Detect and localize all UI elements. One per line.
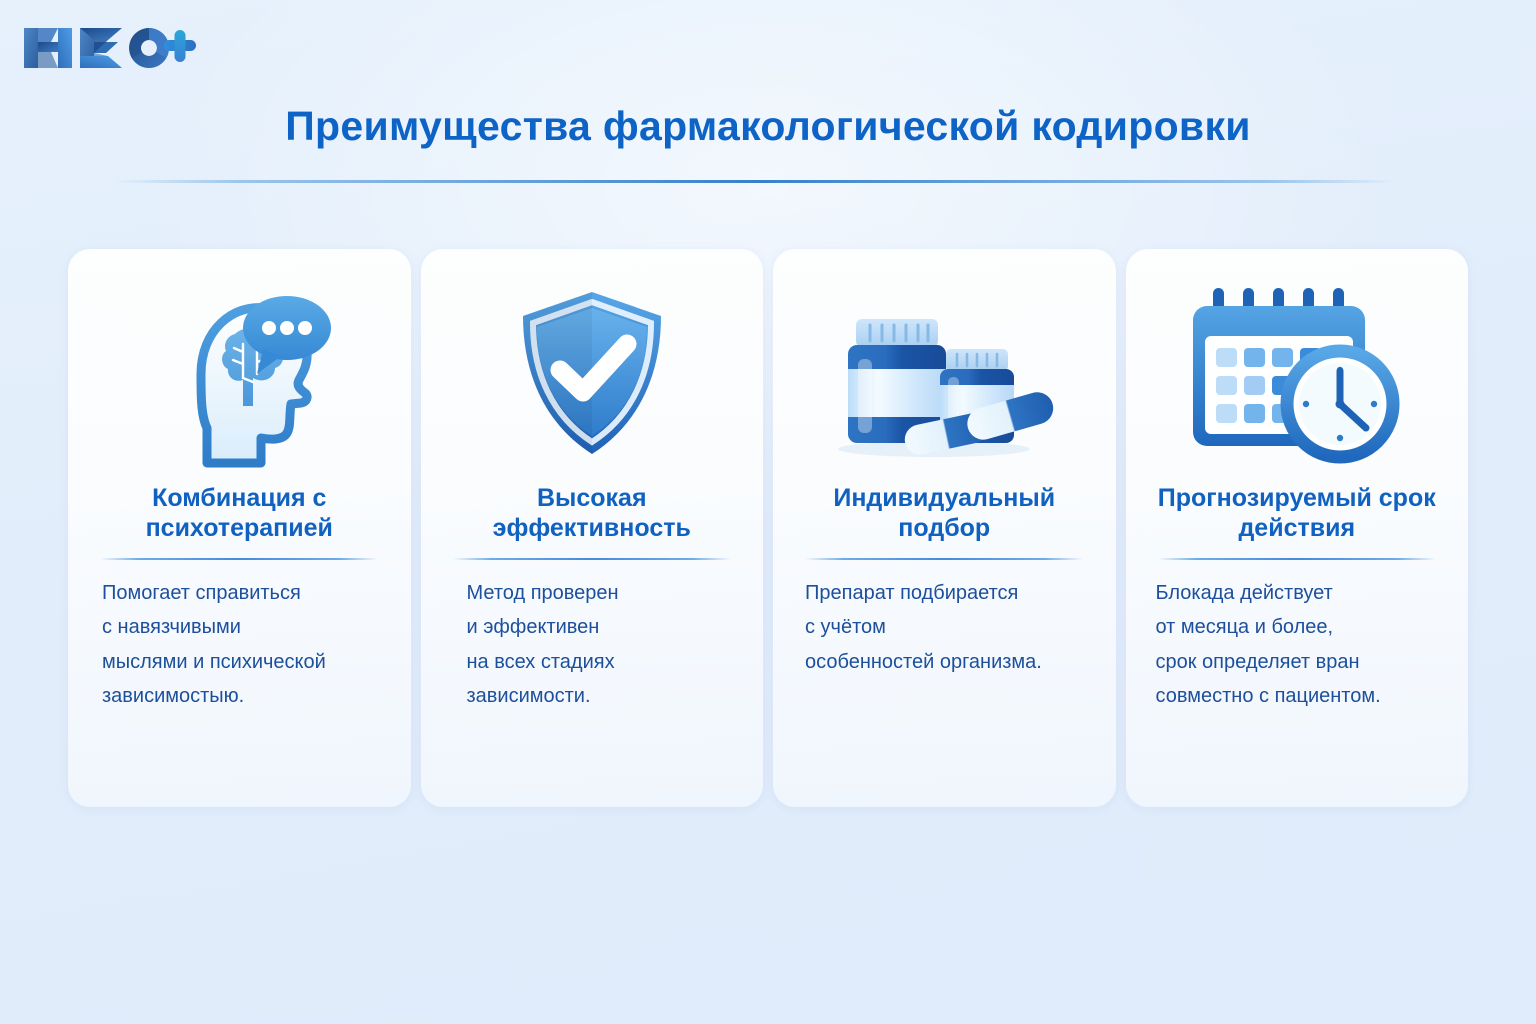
card-divider bbox=[100, 558, 378, 560]
pill-bottles-capsules-icon bbox=[824, 281, 1064, 466]
calendar-clock-icon bbox=[1183, 278, 1411, 468]
card-body-line: особенностей организма. bbox=[805, 645, 1094, 679]
card-title-line: Комбинация bbox=[152, 484, 306, 512]
card-divider bbox=[805, 558, 1083, 560]
card-icon-slot bbox=[1144, 273, 1451, 473]
card-body-line: с учётом bbox=[805, 610, 1094, 644]
benefit-card-duration[interactable]: Прогнозируемый срок действия Блокада дей… bbox=[1126, 249, 1469, 807]
bubble-dot bbox=[280, 321, 294, 335]
card-body: Метод проверен и эффективен на всех стад… bbox=[439, 576, 746, 714]
bubble-dot bbox=[298, 321, 312, 335]
card-body-line: Препарат подбирается bbox=[805, 576, 1094, 610]
card-body-line: срок определяет вран bbox=[1156, 645, 1447, 679]
benefit-card-grid: Комбинация с психотерапией Помогает спра… bbox=[68, 249, 1468, 807]
benefit-card-individual-selection[interactable]: Индивидуальный подбор Препарат подбирает… bbox=[773, 249, 1116, 807]
card-body: Блокада действует от месяца и более, сро… bbox=[1144, 576, 1451, 714]
card-divider bbox=[1158, 558, 1436, 560]
logo-plus-icon bbox=[164, 30, 196, 62]
brain-head-speech-bubble-icon bbox=[139, 278, 339, 468]
card-body-line: совместно с пациентом. bbox=[1156, 679, 1447, 713]
card-body-line: на всех стадиях bbox=[467, 645, 742, 679]
card-body-line: Метод проверен bbox=[467, 576, 742, 610]
title-divider bbox=[115, 180, 1397, 183]
card-title: Комбинация с психотерапией bbox=[86, 481, 393, 545]
card-body-line: и эффективен bbox=[467, 610, 742, 644]
card-body-line: с навязчивыми bbox=[102, 610, 389, 644]
card-title: Индивидуальный подбор bbox=[791, 481, 1098, 545]
page-header: Преимущества фармакологической кодировки bbox=[0, 104, 1536, 149]
card-body-line: зависимостыю. bbox=[102, 679, 389, 713]
benefit-card-psychotherapy[interactable]: Комбинация с психотерапией Помогает спра… bbox=[68, 249, 411, 807]
card-title-line: эффективность bbox=[493, 514, 691, 542]
logo-letter-n bbox=[24, 28, 72, 68]
benefit-card-effectiveness[interactable]: Высокая эффективность Метод проверен и э… bbox=[421, 249, 764, 807]
logo-letter-o bbox=[129, 28, 169, 68]
shield-check-icon bbox=[497, 278, 687, 468]
card-body-line: Блокада действует bbox=[1156, 576, 1447, 610]
card-title-line: Высокая bbox=[537, 484, 647, 512]
card-body: Помогает справиться с навязчивыми мыслям… bbox=[86, 576, 393, 714]
card-title: Прогнозируемый срок действия bbox=[1144, 481, 1451, 545]
card-divider bbox=[453, 558, 731, 560]
page-title: Преимущества фармакологической кодировки bbox=[0, 104, 1536, 149]
card-body: Препарат подбирается с учётом особенност… bbox=[791, 576, 1098, 679]
card-body-line: зависимости. bbox=[467, 679, 742, 713]
card-body-line: Помогает справиться bbox=[102, 576, 389, 610]
clock-shape bbox=[1284, 348, 1396, 460]
card-icon-slot bbox=[86, 273, 393, 473]
card-title-line: Индивидуальный bbox=[833, 484, 1055, 512]
card-title-line: Прогнозируемый bbox=[1158, 484, 1372, 512]
card-icon-slot bbox=[439, 273, 746, 473]
card-title: Высокая эффективность bbox=[439, 481, 746, 545]
card-body-line: от месяца и более, bbox=[1156, 610, 1447, 644]
logo-letter-e bbox=[80, 28, 122, 68]
card-icon-slot bbox=[791, 273, 1098, 473]
card-title-line: подбор bbox=[898, 514, 990, 542]
brand-logo[interactable] bbox=[18, 22, 198, 74]
card-body-line: мыслями и психической bbox=[102, 645, 389, 679]
bubble-dot bbox=[262, 321, 276, 335]
